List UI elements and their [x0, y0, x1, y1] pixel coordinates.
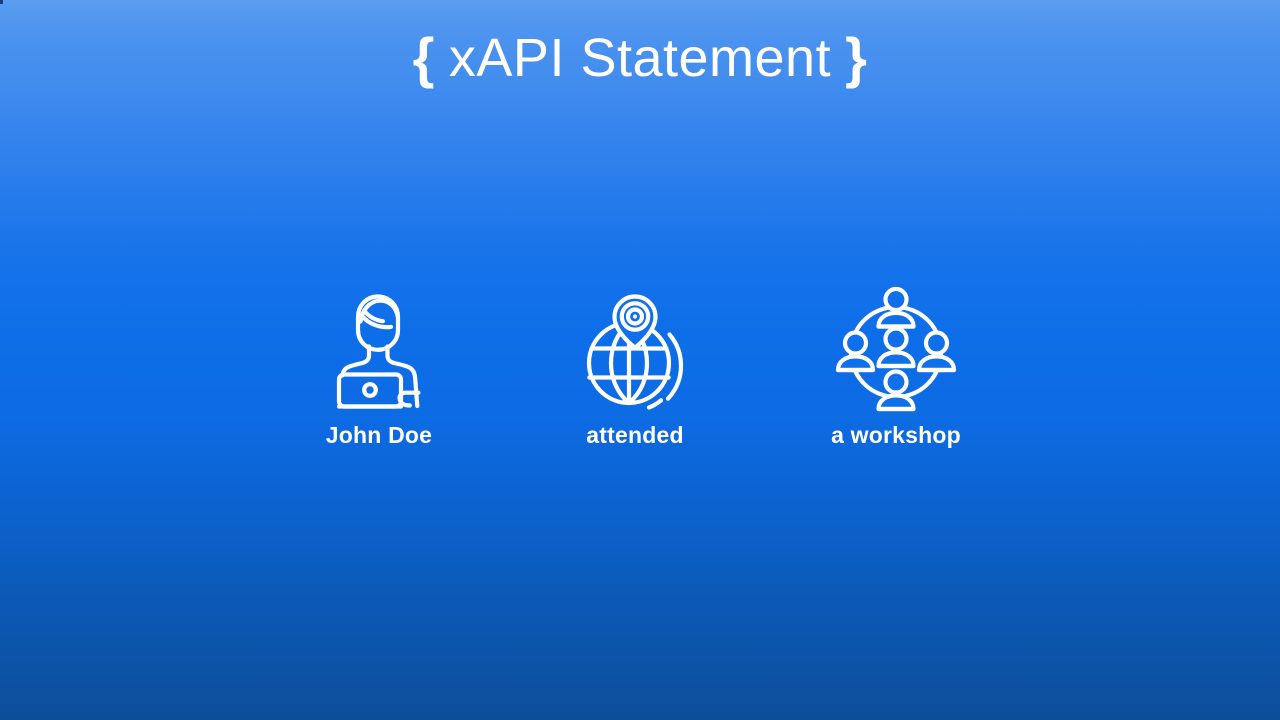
- xapi-statement-slide: {xAPI Statement}: [0, 0, 1280, 720]
- statement-actor: John Doe: [254, 286, 504, 449]
- people-network-icon: [834, 286, 958, 416]
- page-title: {xAPI Statement}: [0, 30, 1280, 86]
- actor-label: John Doe: [326, 422, 432, 449]
- statement-row: John Doe: [0, 286, 1280, 449]
- close-brace: }: [845, 26, 867, 89]
- verb-label: attended: [586, 422, 683, 449]
- statement-object: a workshop: [766, 286, 1026, 449]
- open-brace: {: [413, 26, 435, 89]
- object-label: a workshop: [831, 422, 961, 449]
- statement-verb: attended: [504, 286, 766, 449]
- person-with-laptop-icon: [317, 286, 441, 416]
- page-title-text: xAPI Statement: [435, 28, 845, 88]
- corner-artifact: [0, 0, 3, 4]
- globe-with-location-pin-icon: [573, 286, 697, 416]
